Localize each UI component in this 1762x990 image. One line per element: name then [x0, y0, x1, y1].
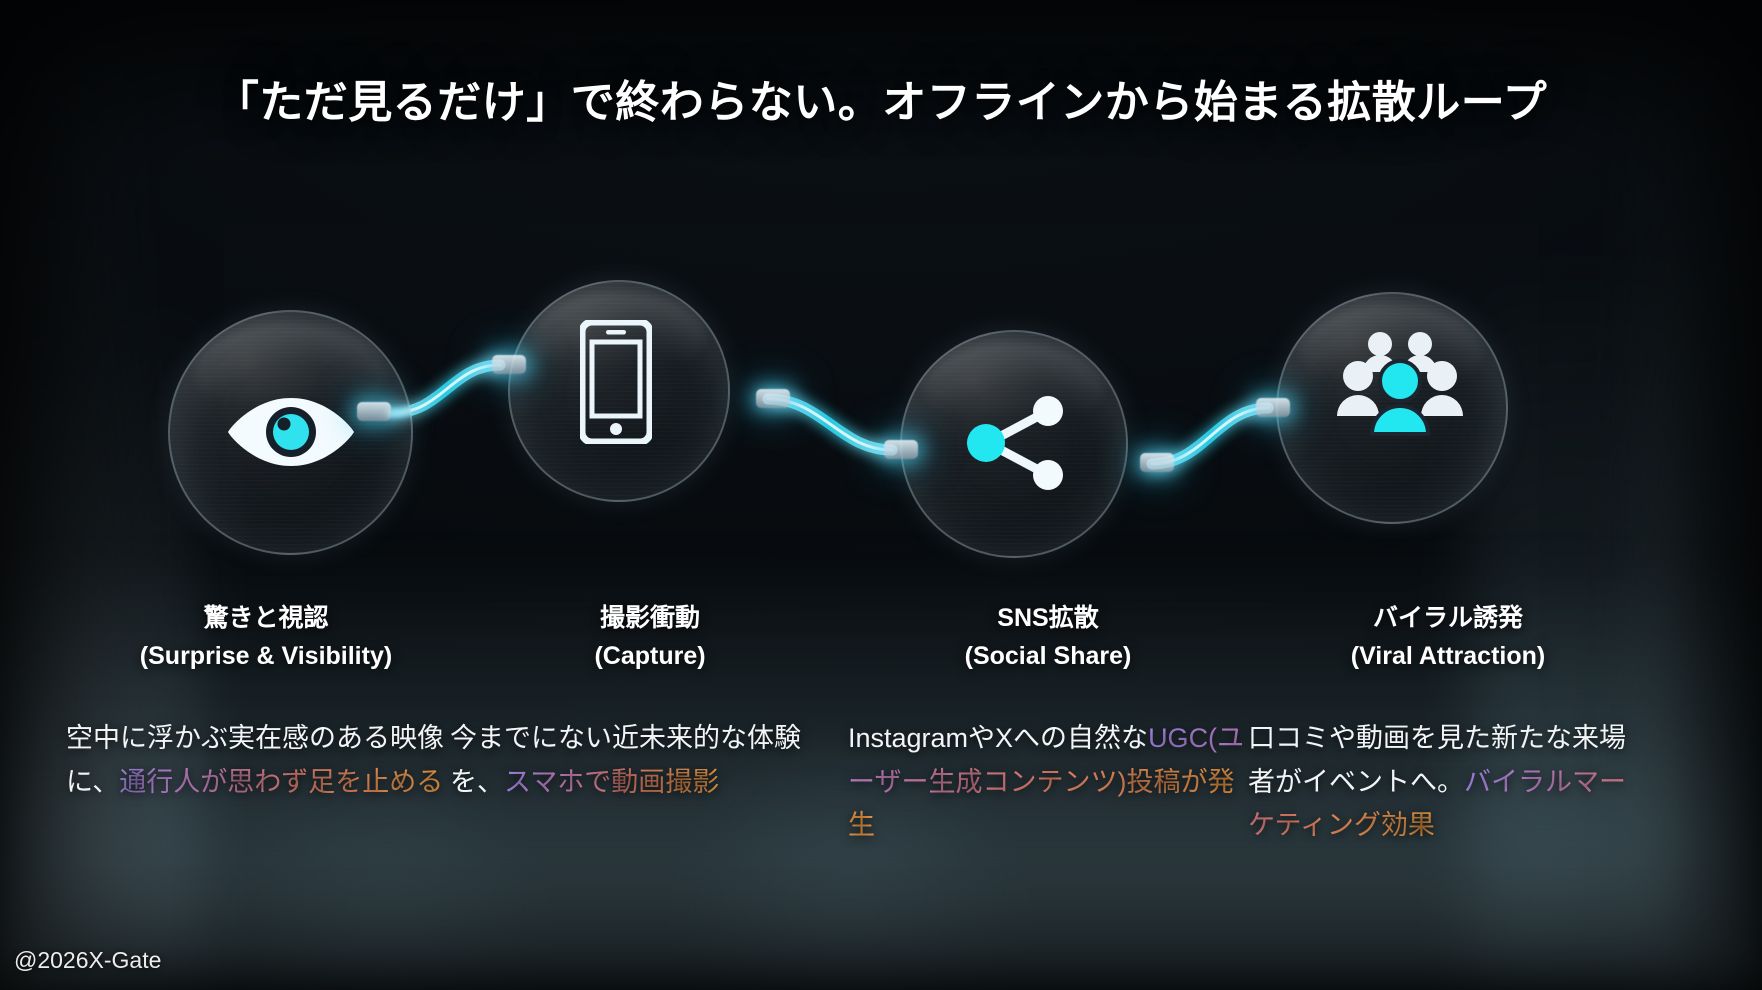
caption-title-2: 撮影衝動 (Capture) — [450, 600, 850, 675]
caption-column-4: バイラル誘発 (Viral Attraction) 口コミや動画を見た新たな来場… — [1248, 600, 1648, 848]
caption-column-1: 驚きと視認 (Surprise & Visibility) 空中に浮かぶ実在感の… — [66, 600, 466, 804]
caption-body-highlight-1: 通行人が思わず足を止める — [119, 767, 443, 797]
caption-column-3: SNS拡散 (Social Share) InstagramやXへの自然なUGC… — [848, 600, 1248, 848]
watermark: @2026X-Gate — [14, 947, 161, 974]
caption-title-1: 驚きと視認 (Surprise & Visibility) — [66, 600, 466, 675]
smartphone-icon — [580, 320, 652, 444]
connector-cap-1-out — [357, 402, 391, 421]
process-flow-diagram — [0, 280, 1762, 540]
caption-title-4: バイラル誘発 (Viral Attraction) — [1248, 600, 1648, 675]
connector-cap-4-in — [1256, 398, 1290, 417]
caption-title-en-1: (Surprise & Visibility) — [66, 638, 466, 676]
share-icon — [960, 385, 1076, 501]
step-captions: 驚きと視認 (Surprise & Visibility) 空中に浮かぶ実在感の… — [0, 600, 1762, 990]
connector-cap-3-out — [1140, 453, 1174, 472]
caption-title-3: SNS拡散 (Social Share) — [848, 600, 1248, 675]
caption-body-1: 空中に浮かぶ実在感のある映像に、通行人が思わず足を止める — [66, 717, 466, 804]
caption-title-ja-3: SNS拡散 — [848, 600, 1248, 638]
page-title: 「ただ見るだけ」で終わらない。オフラインから始まる拡散ループ — [0, 66, 1762, 130]
caption-title-en-2: (Capture) — [450, 638, 850, 676]
caption-body-highlight-2: スマホで動画撮影 — [504, 767, 719, 797]
caption-title-ja-4: バイラル誘発 — [1248, 600, 1648, 638]
eye-icon — [226, 392, 356, 472]
caption-title-en-4: (Viral Attraction) — [1248, 638, 1648, 676]
caption-body-4: 口コミや動画を見た新たな来場者がイベントへ。バイラルマーケティング効果 — [1248, 717, 1648, 848]
caption-title-ja-1: 驚きと視認 — [66, 600, 466, 638]
caption-body-plain-3: InstagramやXへの自然な — [848, 723, 1148, 753]
connector-cap-2-in — [492, 355, 526, 374]
caption-body-2: 今までにない近未来的な体験を、スマホで動画撮影 — [450, 717, 850, 804]
connector-cap-3-in — [884, 440, 918, 459]
people-group-icon — [1336, 328, 1464, 440]
caption-body-3: InstagramやXへの自然なUGC(ユーザー生成コンテンツ)投稿が発生 — [848, 717, 1248, 848]
caption-title-ja-2: 撮影衝動 — [450, 600, 850, 638]
caption-column-2: 撮影衝動 (Capture) 今までにない近未来的な体験を、スマホで動画撮影 — [450, 600, 850, 804]
connector-cap-2-out — [756, 389, 790, 408]
caption-title-en-3: (Social Share) — [848, 638, 1248, 676]
